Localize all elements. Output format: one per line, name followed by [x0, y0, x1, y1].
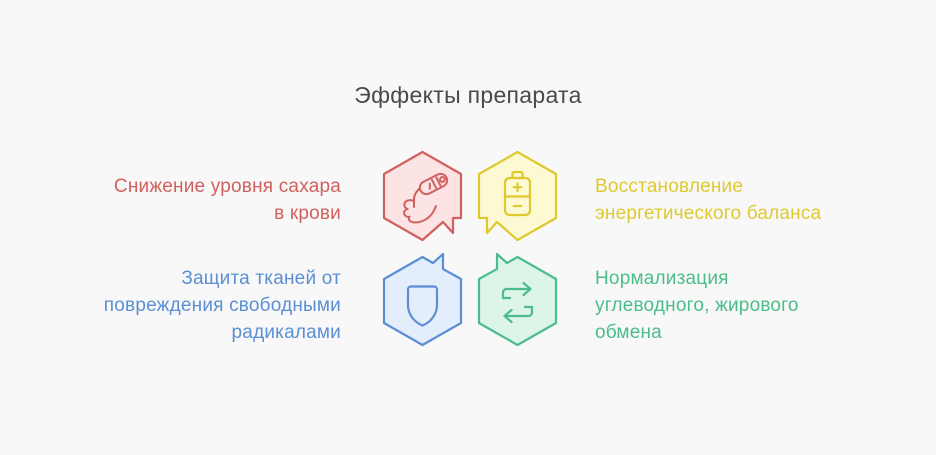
page-title: Эффекты препарата	[0, 82, 936, 109]
effect-label-blood-sugar: Снижение уровня сахара в крови	[101, 173, 375, 227]
effects-row-1: Снижение уровня сахара в крови	[0, 150, 936, 250]
finger-test-strip-icon	[375, 145, 470, 255]
shield-icon	[375, 250, 470, 360]
effect-icon-tissue-protection[interactable]	[375, 250, 470, 360]
effect-label-energy-balance: Восстановление энергетического баланса	[565, 173, 835, 227]
exchange-arrows-icon	[470, 250, 565, 360]
effect-icon-blood-sugar[interactable]	[375, 145, 470, 255]
effect-label-metabolism: Нормализация углеводного, жирового обмен…	[565, 265, 835, 346]
effect-icon-energy-balance[interactable]	[470, 145, 565, 255]
effect-icon-metabolism[interactable]	[470, 250, 565, 360]
effects-grid: Снижение уровня сахара в крови	[0, 150, 936, 355]
effect-label-tissue-protection: Защита тканей от повреждения свободными …	[101, 265, 375, 346]
slide-effects-of-drug: Эффекты препарата Снижение уровня сахара…	[0, 0, 936, 455]
effects-row-2: Защита тканей от повреждения свободными …	[0, 255, 936, 355]
battery-icon	[470, 145, 565, 255]
